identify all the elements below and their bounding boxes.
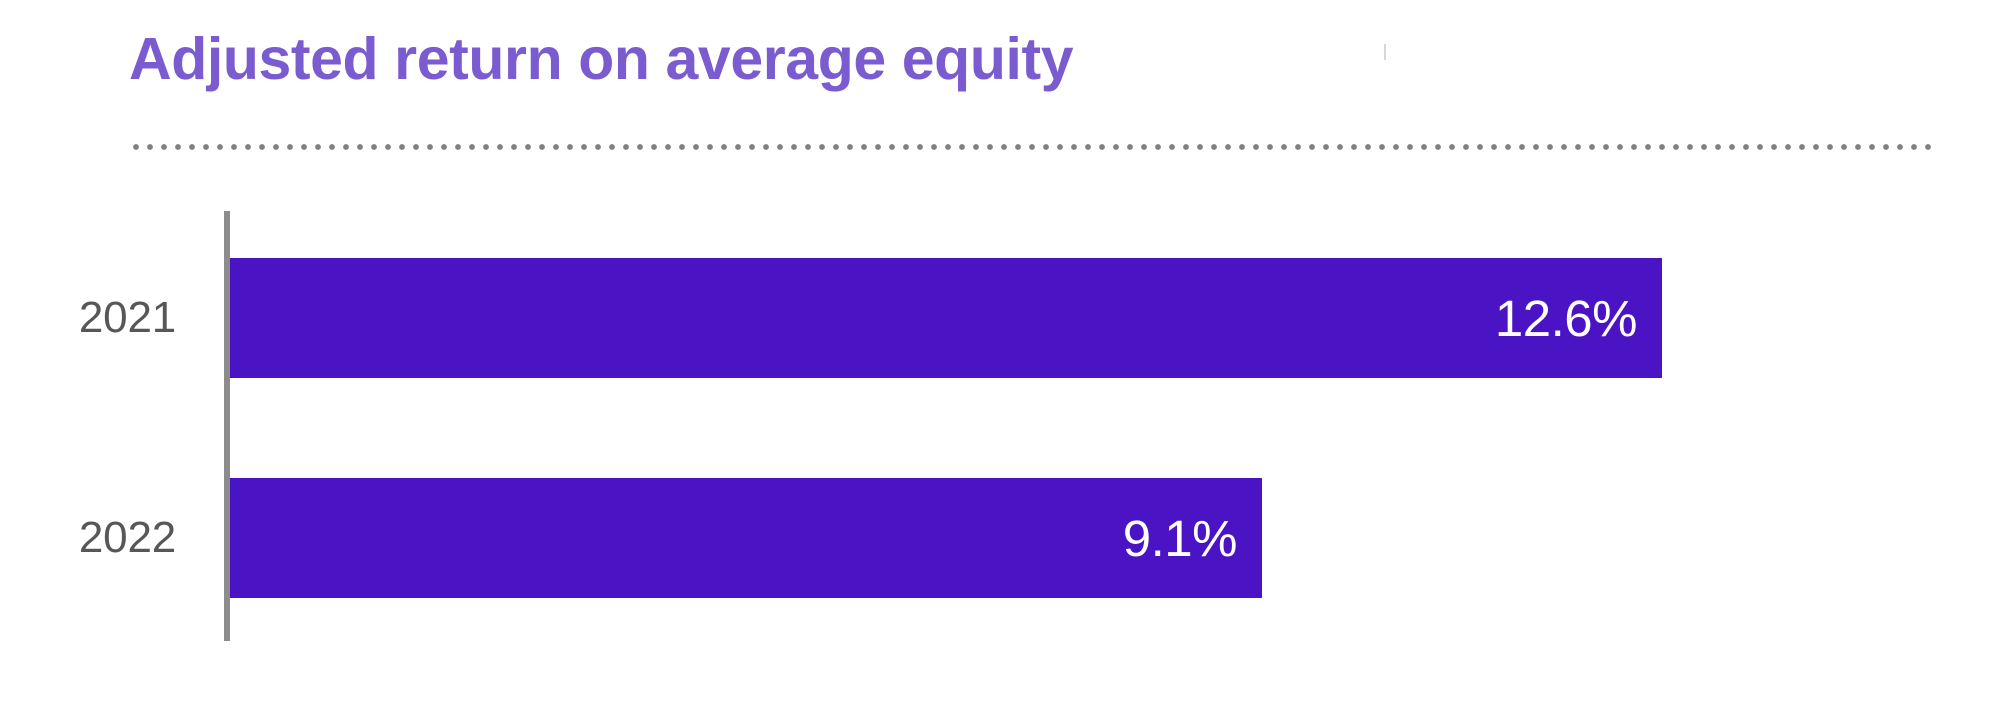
bar-value-label-2022: 9.1% xyxy=(1123,513,1262,564)
bar-2022[interactable]: 9.1% xyxy=(230,478,1262,598)
bar-value-label-2021: 12.6% xyxy=(1495,293,1662,344)
category-label-2021: 2021 xyxy=(0,296,176,340)
bar-2021[interactable]: 12.6% xyxy=(230,258,1662,378)
plot-area: 12.6% 9.1% 2021 2022 xyxy=(0,0,2016,708)
chart-canvas: Adjusted return on average equity 12.6% … xyxy=(0,0,2016,708)
category-label-2022: 2022 xyxy=(0,516,176,560)
